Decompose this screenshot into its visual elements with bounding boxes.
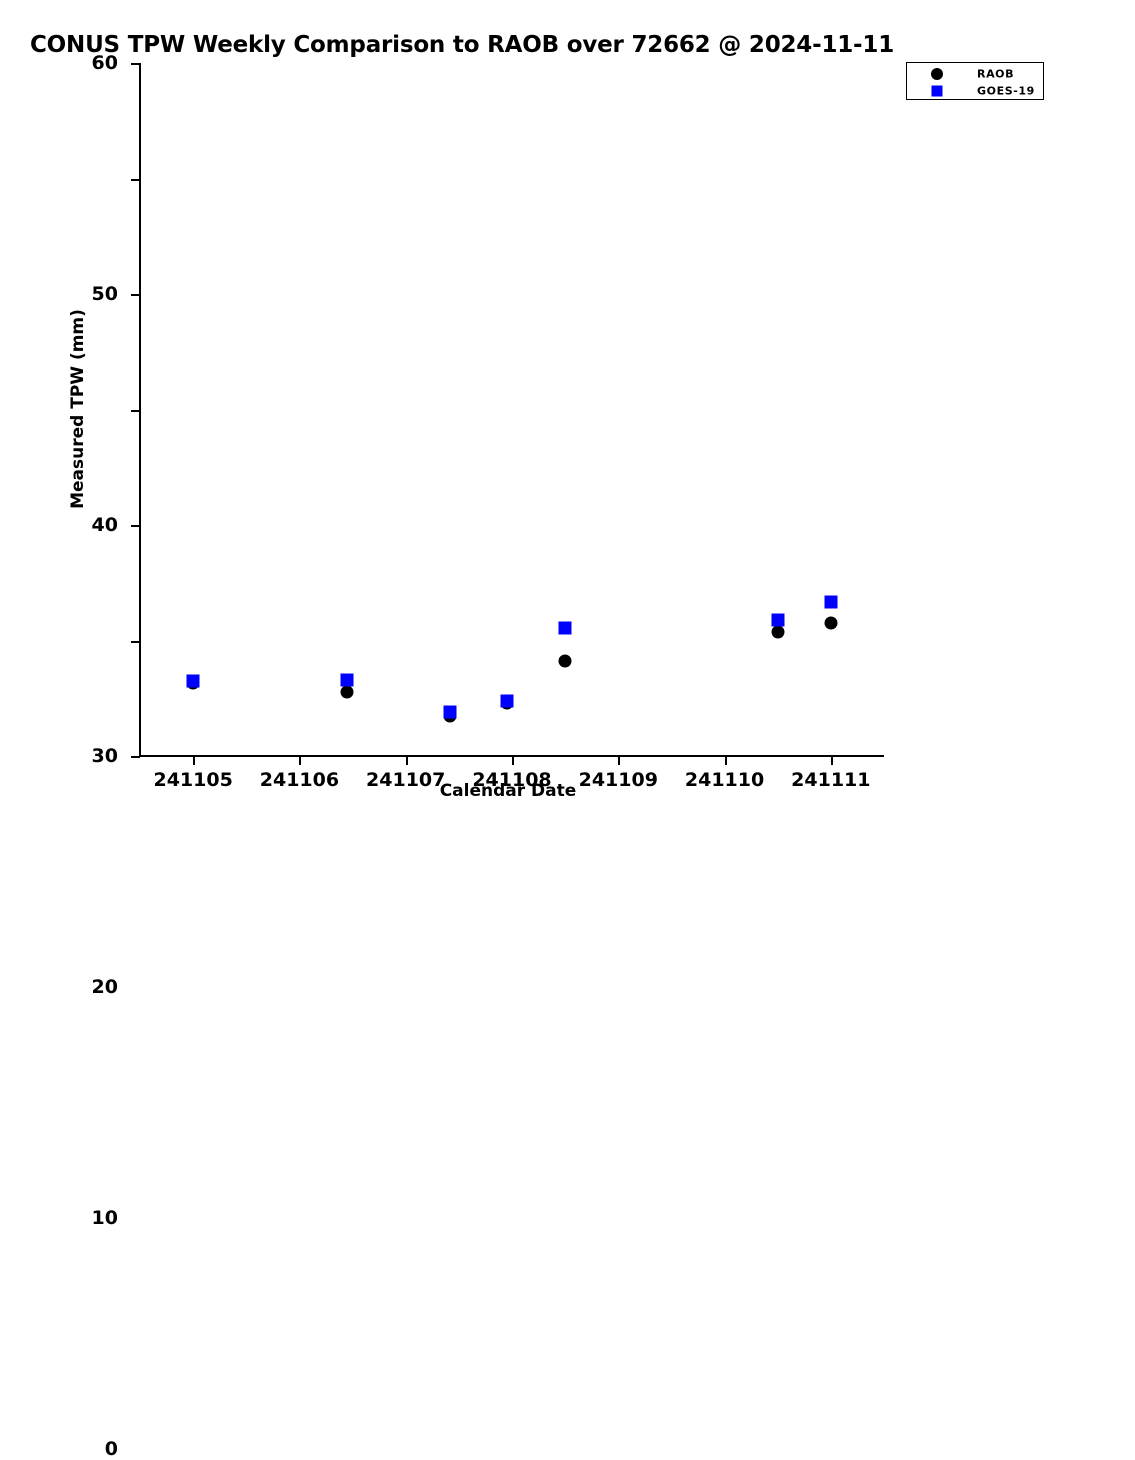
- y-tick-mark: 60: [131, 63, 140, 65]
- legend-swatch-square-icon: [932, 86, 943, 97]
- x-tick-label: 241108: [472, 769, 551, 791]
- x-tick-mark: [725, 756, 727, 765]
- chart-figure: CONUS TPW Weekly Comparison to RAOB over…: [0, 0, 1135, 851]
- x-tick-mark: [831, 756, 833, 765]
- data-point-goes-19: [559, 621, 572, 634]
- plot-area: 0102030405060 24110524110624110724110824…: [140, 63, 884, 756]
- y-tick-label: 0: [105, 1438, 118, 1460]
- x-tick-mark: [618, 756, 620, 765]
- x-tick-mark: [406, 756, 408, 765]
- y-tick-mark: 50: [131, 179, 140, 181]
- legend-swatch-circle-icon: [931, 68, 943, 80]
- x-tick-label: 241105: [153, 769, 232, 791]
- chart-legend: RAOB GOES-19: [906, 62, 1044, 100]
- x-tick-label: 241111: [791, 769, 870, 791]
- legend-entry-raob: RAOB: [907, 65, 1043, 83]
- y-tick-mark: 20: [131, 525, 140, 527]
- legend-entry-goes: GOES-19: [907, 82, 1043, 100]
- data-point-raob: [559, 655, 572, 668]
- x-tick-mark: [512, 756, 514, 765]
- data-point-goes-19: [500, 694, 513, 707]
- y-tick-label: 60: [92, 52, 118, 74]
- data-point-goes-19: [444, 706, 457, 719]
- y-tick-label: 30: [92, 745, 118, 767]
- y-tick-mark: 0: [131, 756, 140, 758]
- y-tick-label: 20: [92, 976, 118, 998]
- y-tick-mark: 10: [131, 641, 140, 643]
- chart-title: CONUS TPW Weekly Comparison to RAOB over…: [30, 32, 894, 58]
- data-point-goes-19: [824, 596, 837, 609]
- x-tick-label: 241106: [260, 769, 339, 791]
- y-tick-label: 10: [92, 1207, 118, 1229]
- data-point-raob: [824, 617, 837, 630]
- y-tick-label: 50: [92, 283, 118, 305]
- legend-label-goes: GOES-19: [977, 85, 1035, 98]
- data-point-goes-19: [771, 613, 784, 626]
- x-tick-mark: [299, 756, 301, 765]
- data-point-goes-19: [341, 673, 354, 686]
- data-point-goes-19: [187, 674, 200, 687]
- data-point-raob: [341, 686, 354, 699]
- y-tick-mark: 30: [131, 410, 140, 412]
- legend-label-raob: RAOB: [977, 68, 1014, 81]
- x-tick-label: 241107: [366, 769, 445, 791]
- y-tick-label: 40: [92, 514, 118, 536]
- y-tick-mark: 40: [131, 294, 140, 296]
- x-tick-mark: [193, 756, 195, 765]
- y-axis-label: Measured TPW (mm): [68, 309, 88, 509]
- data-point-raob: [771, 626, 784, 639]
- x-tick-label: 241110: [685, 769, 764, 791]
- x-tick-label: 241109: [579, 769, 658, 791]
